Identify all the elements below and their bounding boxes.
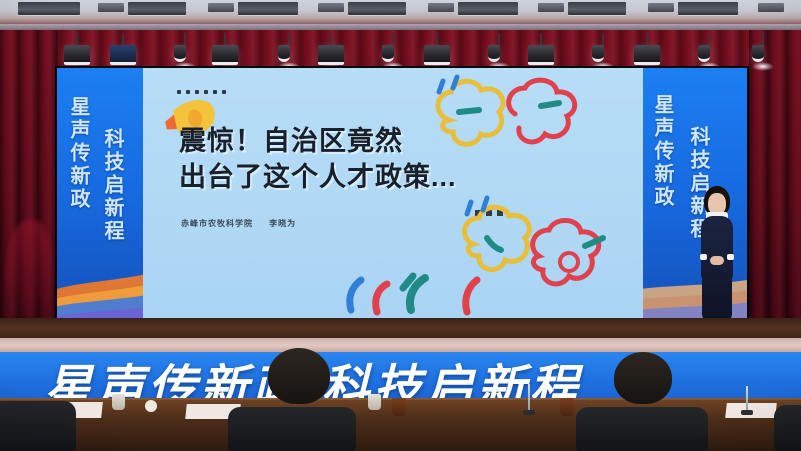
- led-left-column-1: 星声传新政: [67, 96, 88, 211]
- presenter: [690, 186, 744, 338]
- conference-table: [0, 400, 801, 451]
- slide-content: 震惊！自治区竟然 出台了这个人才政策... 赤峰市农牧科学院 李晓为: [143, 68, 643, 320]
- led-screen: 星声传新政 科技启新程: [55, 66, 749, 322]
- chair: [576, 407, 708, 451]
- tea-cup: [560, 398, 574, 416]
- chair: [774, 405, 801, 451]
- microphone: [528, 384, 530, 412]
- led-left-column-2: 科技启新程: [101, 128, 122, 243]
- curtain-left: [0, 30, 58, 360]
- curtain-right: [749, 30, 801, 360]
- microphone: [746, 386, 748, 412]
- tea-cup: [368, 394, 381, 410]
- screenshot-frame: 星声传新政 科技启新程: [0, 0, 801, 451]
- microphone-base: [741, 410, 753, 415]
- stage-light: [752, 33, 774, 71]
- byline-org: 赤峰市农牧科学院: [181, 219, 253, 228]
- cloud-doodle-upper: [405, 74, 585, 194]
- tea-cup: [392, 398, 406, 416]
- tea-cup: [145, 400, 157, 412]
- panel-wave-graphic: [57, 240, 143, 320]
- led-panel-left: 星声传新政 科技启新程: [57, 68, 143, 320]
- byline-speaker: 李晓为: [269, 219, 296, 228]
- slide-byline: 赤峰市农牧科学院 李晓为: [181, 218, 296, 229]
- bottom-stroke-doodles: [341, 264, 521, 320]
- tea-cup: [112, 394, 125, 410]
- audience-head: [614, 352, 672, 404]
- chair: [0, 401, 76, 451]
- ceiling: [0, 0, 801, 24]
- audience-head: [268, 348, 330, 404]
- chair: [228, 407, 356, 451]
- led-right-column-1: 星声传新政: [651, 94, 672, 209]
- microphone-base: [523, 410, 535, 415]
